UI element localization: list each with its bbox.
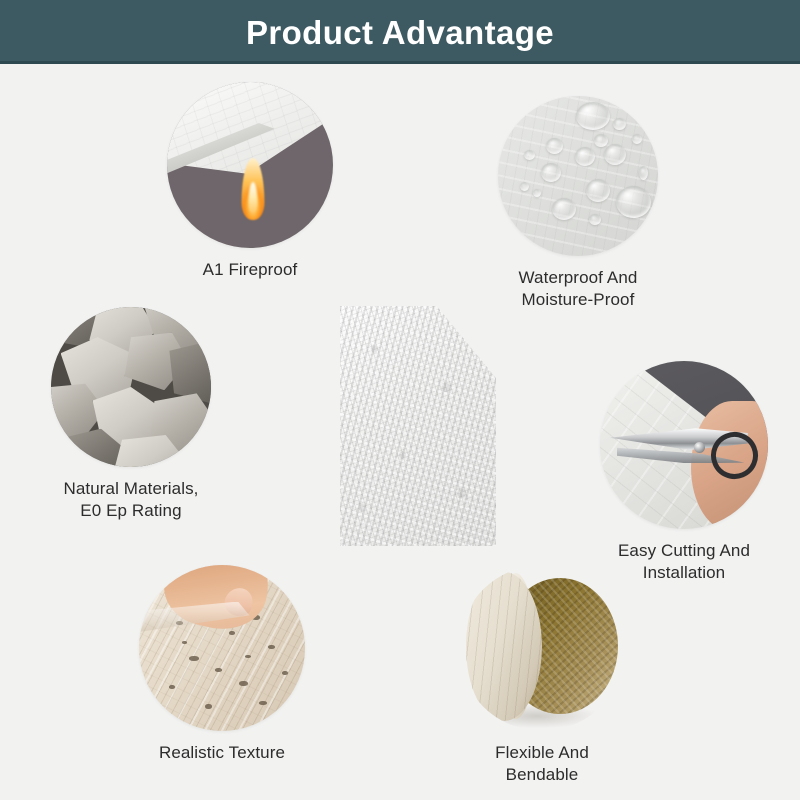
feature-fireproof[interactable]: A1 Fireproof — [155, 82, 345, 281]
header-banner: Product Advantage — [0, 0, 800, 64]
stone-wall-panel-shape — [340, 306, 496, 546]
feature-realistic-texture[interactable]: Realistic Texture — [139, 565, 305, 764]
fireproof-flame-photo — [167, 82, 333, 248]
feature-flexible-bendable[interactable]: Flexible And Bendable — [459, 565, 625, 786]
feature-waterproof[interactable]: Waterproof And Moisture-Proof — [480, 96, 676, 311]
feature-caption-fireproof: A1 Fireproof — [203, 259, 298, 281]
feature-caption-realistic-texture: Realistic Texture — [159, 742, 285, 764]
scissors-cutting-photo — [600, 361, 768, 529]
feature-natural-materials[interactable]: Natural Materials, E0 Ep Rating — [40, 307, 222, 522]
page-title: Product Advantage — [246, 16, 554, 49]
feature-caption-easy-cutting: Easy Cutting And Installation — [618, 540, 750, 584]
rolled-panel-photo — [459, 565, 625, 731]
feature-caption-flexible-bendable: Flexible And Bendable — [459, 742, 625, 786]
feature-easy-cutting[interactable]: Easy Cutting And Installation — [594, 361, 774, 584]
limestone-rocks-photo — [51, 307, 211, 467]
feature-stage: A1 Fireproof Water — [0, 64, 800, 800]
finger-touching-texture-photo — [139, 565, 305, 731]
feature-caption-natural-materials: Natural Materials, E0 Ep Rating — [63, 478, 198, 522]
water-droplets-photo — [498, 96, 658, 256]
feature-caption-waterproof: Waterproof And Moisture-Proof — [519, 267, 638, 311]
